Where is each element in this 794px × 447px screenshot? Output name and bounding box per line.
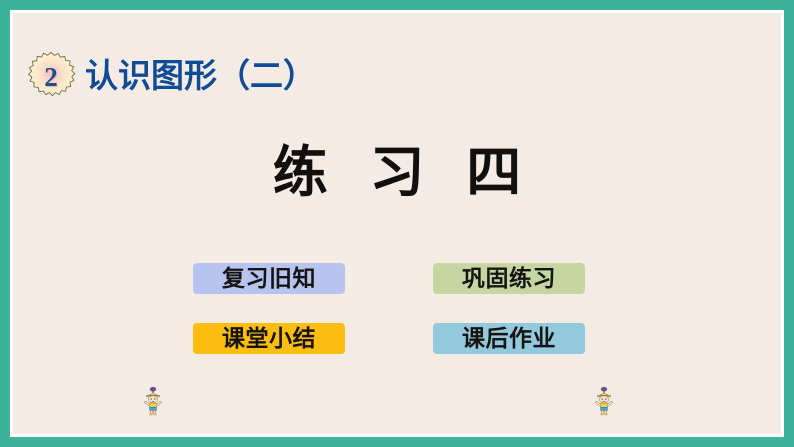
chapter-number-badge: 2 xyxy=(25,51,77,103)
button-row-2: 课堂小结 课后作业 xyxy=(193,323,613,383)
button-row-1: 复习旧知 巩固练习 xyxy=(193,263,613,323)
button-consolidation-practice[interactable]: 巩固练习 xyxy=(433,263,585,294)
button-review-old-knowledge[interactable]: 复习旧知 xyxy=(193,263,345,294)
chapter-title: 认识图形（二） xyxy=(85,61,316,94)
chapter-header: 2 认识图形（二） xyxy=(25,49,316,105)
button-class-summary[interactable]: 课堂小结 xyxy=(193,323,345,354)
cartoon-child-figure-icon xyxy=(591,386,617,416)
button-row-gap xyxy=(345,323,433,383)
section-button-grid: 复习旧知 巩固练习 课堂小结 课后作业 xyxy=(193,263,613,383)
cartoon-child-figure-icon xyxy=(140,386,166,416)
cartoon-child-figure-icon-right xyxy=(591,386,617,416)
button-homework[interactable]: 课后作业 xyxy=(433,323,585,354)
chapter-number-text: 2 xyxy=(25,51,77,103)
slide-root: 2 认识图形（二） 练 习 四 复习旧知 巩固练习 课堂小结 课后作业 xyxy=(0,0,794,447)
page-title: 练 习 四 xyxy=(13,139,781,208)
slide-canvas: 2 认识图形（二） 练 习 四 复习旧知 巩固练习 课堂小结 课后作业 xyxy=(13,13,781,434)
cartoon-child-figure-icon-left xyxy=(140,386,166,416)
button-row-gap xyxy=(345,263,433,323)
